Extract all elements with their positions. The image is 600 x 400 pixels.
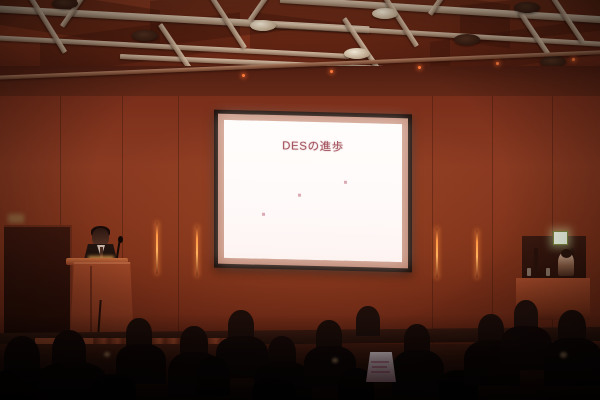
projected-slide: DESの進歩 xyxy=(224,120,402,262)
wall-light-strip xyxy=(436,228,438,278)
side-exit-doorway[interactable] xyxy=(4,225,72,347)
wall-light-strip xyxy=(196,226,198,276)
presentation-hall-photo: DESの進歩 xyxy=(0,0,600,400)
water-glass xyxy=(527,268,531,276)
slide-body xyxy=(224,164,402,258)
water-glass xyxy=(546,268,550,276)
panel-post xyxy=(534,248,538,280)
illuminated-exit-sign xyxy=(553,231,568,245)
coffered-lattice-ceiling xyxy=(0,0,600,72)
doorway-lamp xyxy=(8,214,24,223)
wall-light-strip xyxy=(156,222,158,274)
slide-title: DESの進歩 xyxy=(224,136,402,156)
projection-screen[interactable]: DESの進歩 xyxy=(214,110,412,273)
open-laptop-screen[interactable] xyxy=(366,352,396,382)
wall-light-strip xyxy=(476,230,478,278)
microphone-head xyxy=(118,236,123,243)
panelist-head xyxy=(561,249,572,258)
